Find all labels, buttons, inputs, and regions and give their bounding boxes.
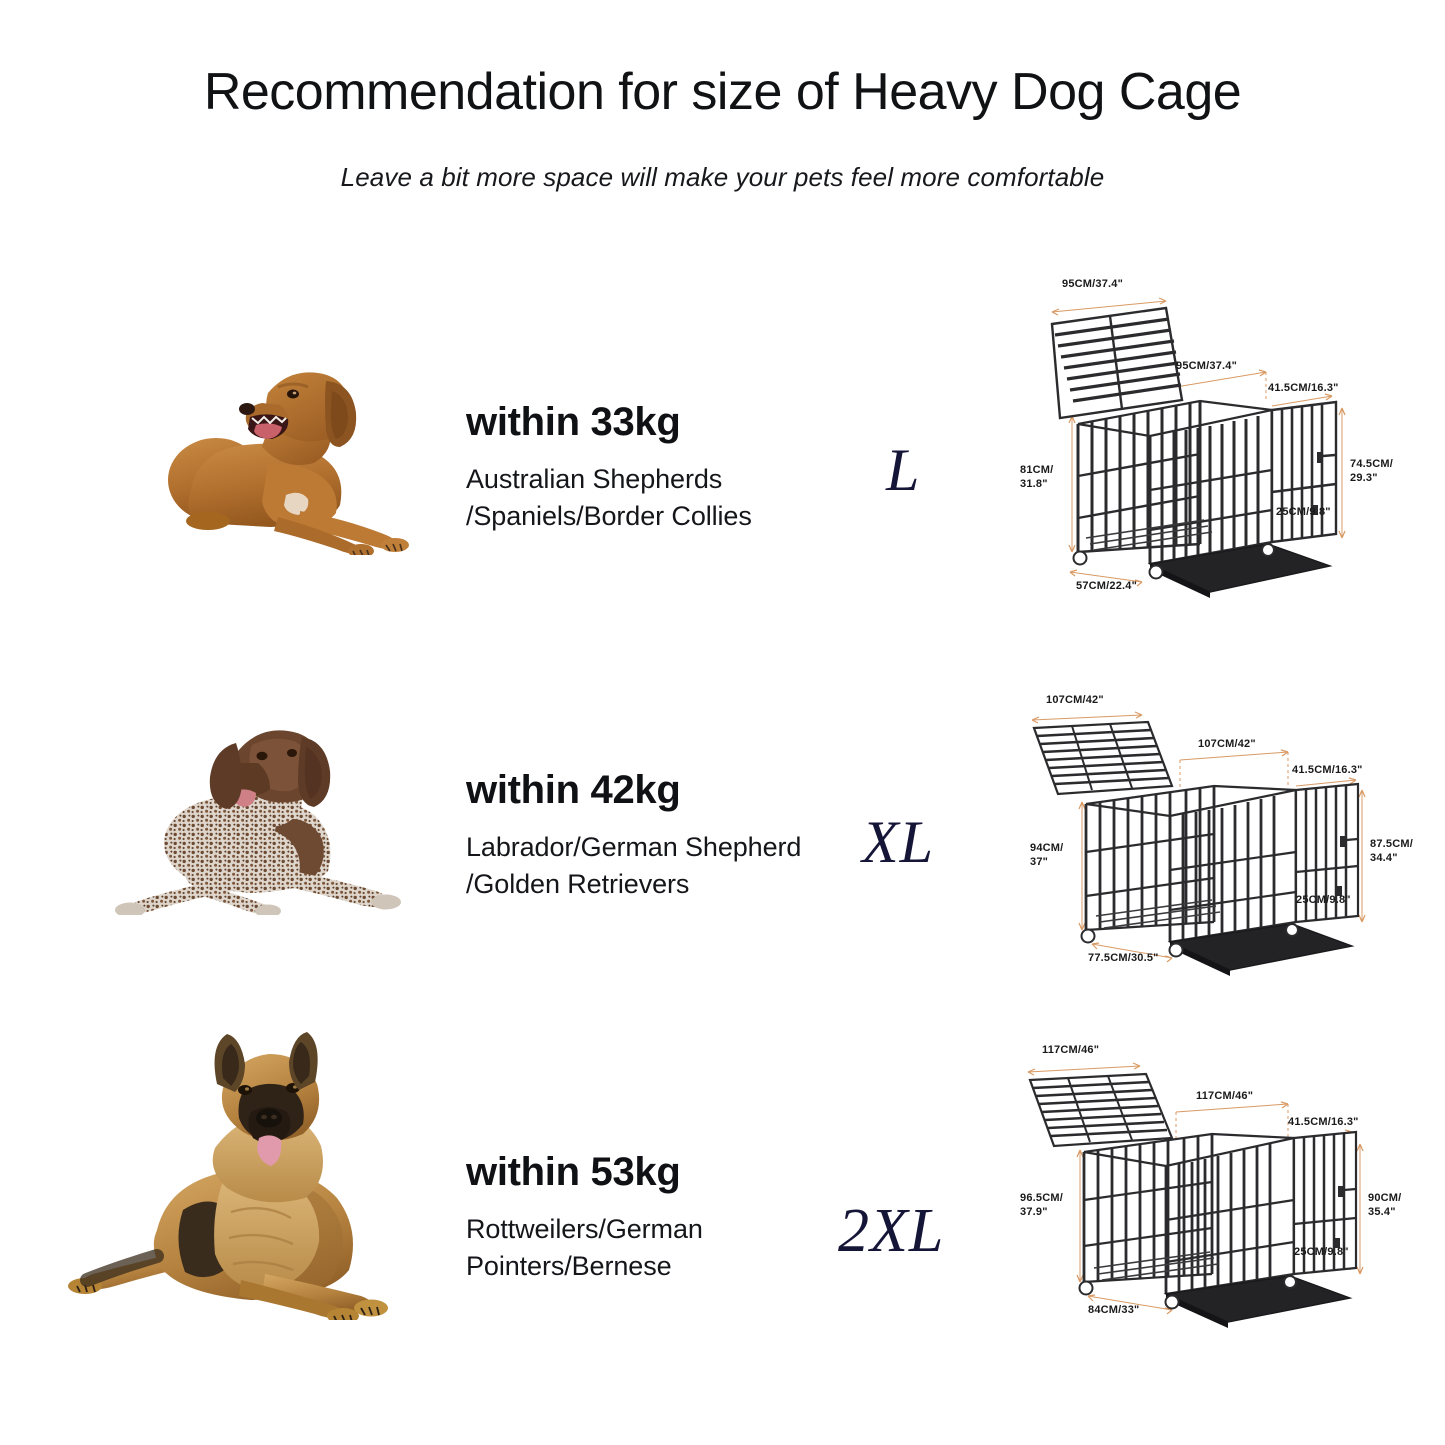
size-row-xl: within 42kg Labrador/German Shepherd /Go… [0, 660, 1445, 1020]
dim-base-depth-2xl: 84CM/33" [1088, 1304, 1139, 1318]
dim-base-depth-l: 57CM/22.4" [1076, 580, 1137, 594]
dim-door-height-l: 74.5CM/ 29.3" [1350, 458, 1393, 486]
dim-lid-width-l: 95CM/37.4" [1062, 278, 1123, 292]
dim-door-width-2xl: 41.5CM/16.3" [1288, 1116, 1359, 1130]
breed-list-xl: Labrador/German Shepherd /Golden Retriev… [466, 829, 801, 904]
cage-diagram-l: 95CM/37.4" 95CM/37.4" 41.5CM/16.3" 81CM/… [1000, 280, 1420, 610]
text-block-xl: within 42kg Labrador/German Shepherd /Go… [466, 768, 801, 904]
size-tag-2xl: 2XL [838, 1196, 944, 1267]
dim-door-width-xl: 41.5CM/16.3" [1292, 764, 1363, 778]
dim-lid-width-xl: 107CM/42" [1046, 694, 1104, 708]
dog-image-german-shepherd [65, 1030, 420, 1320]
dim-height-2xl: 96.5CM/ 37.9" [1020, 1192, 1063, 1220]
size-tag-l: L [886, 436, 920, 505]
dim-top-depth-xl: 107CM/42" [1198, 738, 1256, 752]
page-title: Recommendation for size of Heavy Dog Cag… [0, 62, 1445, 122]
size-row-l: within 33kg Australian Shepherds /Spanie… [0, 270, 1445, 630]
weight-label-2xl: within 53kg [466, 1150, 703, 1195]
cage-diagram-xl: 107CM/42" 107CM/42" 41.5CM/16.3" 94CM/ 3… [1000, 690, 1420, 990]
breed-list-l: Australian Shepherds /Spaniels/Border Co… [466, 461, 752, 536]
weight-label-l: within 33kg [466, 400, 752, 445]
size-row-2xl: within 53kg Rottweilers/German Pointers/… [0, 1020, 1445, 1420]
size-tag-xl: XL [862, 808, 934, 877]
text-block-l: within 33kg Australian Shepherds /Spanie… [466, 400, 752, 536]
dim-door-width-l: 41.5CM/16.3" [1268, 382, 1339, 396]
dim-door-height-xl: 87.5CM/ 34.4" [1370, 838, 1413, 866]
dim-door-height-2xl: 90CM/ 35.4" [1368, 1192, 1401, 1220]
dim-top-depth-l: 95CM/37.4" [1176, 360, 1237, 374]
cage-diagram-2xl: 117CM/46" 117CM/46" 41.5CM/16.3" 96.5CM/… [1000, 1040, 1420, 1340]
page-subtitle: Leave a bit more space will make your pe… [0, 162, 1445, 193]
dim-height-l: 81CM/ 31.8" [1020, 464, 1053, 492]
dim-top-depth-2xl: 117CM/46" [1196, 1090, 1253, 1104]
dim-tray-height-2xl: 25CM/9.8" [1294, 1246, 1349, 1260]
dim-base-depth-xl: 77.5CM/30.5" [1088, 952, 1159, 966]
dog-image-tan-hound [150, 355, 420, 555]
infographic-page: Recommendation for size of Heavy Dog Cag… [0, 0, 1445, 1445]
dim-tray-height-xl: 25CM/9.8" [1296, 894, 1351, 908]
text-block-2xl: within 53kg Rottweilers/German Pointers/… [466, 1150, 703, 1286]
dim-lid-width-2xl: 117CM/46" [1042, 1044, 1099, 1058]
dog-image-german-shorthaired-pointer [110, 715, 420, 915]
dim-tray-height-l: 25CM/9.8" [1276, 506, 1331, 520]
breed-list-2xl: Rottweilers/German Pointers/Bernese [466, 1211, 703, 1286]
weight-label-xl: within 42kg [466, 768, 801, 813]
dim-height-xl: 94CM/ 37" [1030, 842, 1063, 870]
